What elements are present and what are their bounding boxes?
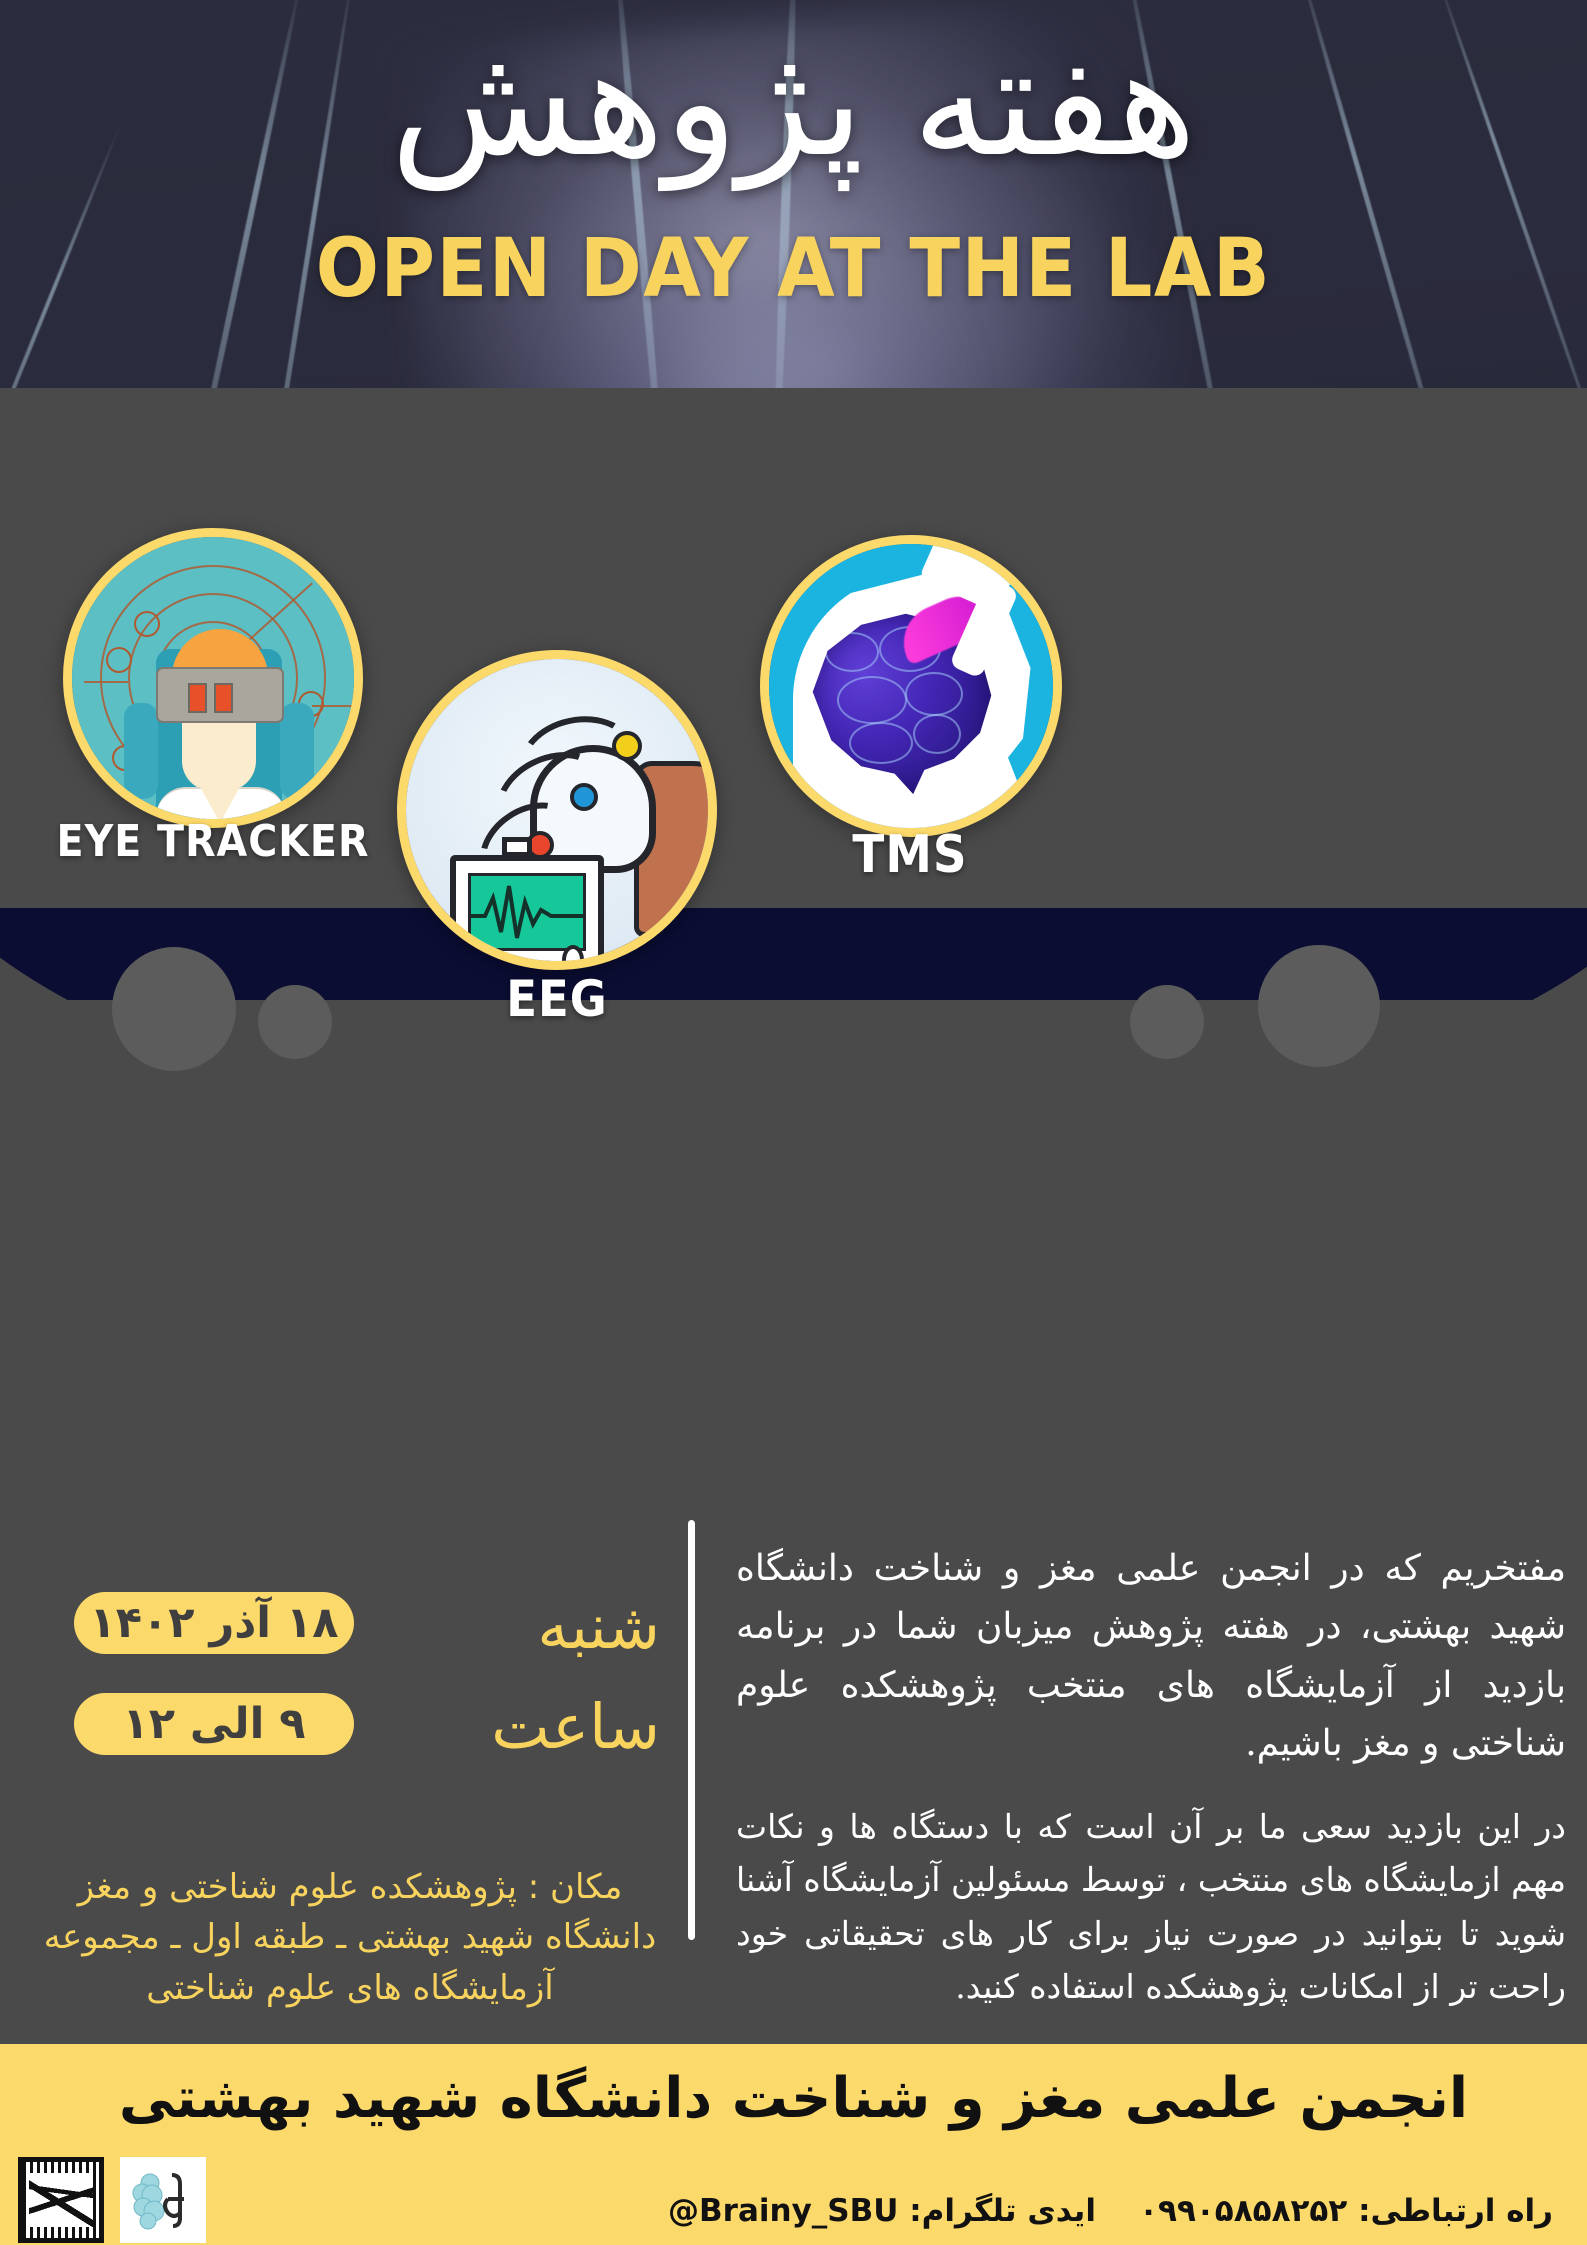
modality-label-tms: TMS bbox=[790, 825, 1030, 885]
monitor-knob-icon bbox=[562, 945, 584, 970]
scan-node-icon bbox=[106, 647, 132, 673]
eeg-monitor-icon bbox=[450, 855, 604, 970]
sbu-university-logo-icon bbox=[18, 2157, 104, 2243]
brain-association-logo-icon bbox=[120, 2157, 206, 2243]
chair-arm-icon bbox=[124, 703, 158, 799]
poster-root: هفته پژوهش OPEN DAY AT THE LAB bbox=[0, 0, 1587, 2245]
gyrus-line-icon bbox=[849, 722, 913, 764]
vertical-divider bbox=[688, 1520, 695, 1940]
day-label: شنبه bbox=[380, 1590, 660, 1663]
sbu-logo-calligraphy bbox=[23, 2162, 99, 2238]
scan-line-icon bbox=[84, 681, 128, 683]
gyrus-line-icon bbox=[905, 672, 963, 716]
page-title-english: OPEN DAY AT THE LAB bbox=[0, 222, 1587, 316]
tms-icon bbox=[760, 535, 1062, 837]
gyrus-line-icon bbox=[837, 676, 907, 724]
electrode-node-blue-icon bbox=[570, 783, 598, 811]
eeg-icon bbox=[397, 650, 717, 970]
description-paragraph-1: مفتخریم که در انجمن علمی مغز و شناخت دان… bbox=[736, 1540, 1566, 1773]
monitor-stand-icon bbox=[502, 837, 532, 857]
footer-bar: انجمن علمی مغز و شناخت دانشگاه شهید بهشت… bbox=[0, 2044, 1587, 2245]
eeg-waveform-screen bbox=[468, 873, 586, 951]
decorative-circle bbox=[258, 985, 332, 1059]
contact-phone: ۰۹۹۰۵۸۵۸۲۵۲ bbox=[1139, 2193, 1347, 2229]
eye-tracker-icon bbox=[63, 528, 363, 828]
telegram-label: ایدی تلگرام: bbox=[909, 2193, 1096, 2229]
scan-node-icon bbox=[134, 611, 160, 637]
contact-line: راه ارتباطی: ۰۹۹۰۵۸۵۸۲۵۲ ایدی تلگرام: @B… bbox=[668, 2193, 1553, 2229]
modality-eye-tracker[interactable]: EYE TRACKER bbox=[63, 528, 363, 828]
gyrus-line-icon bbox=[913, 714, 961, 754]
modality-label-eeg: EEG bbox=[357, 970, 757, 1028]
modality-label-eye-tracker: EYE TRACKER bbox=[8, 816, 418, 867]
page-title-persian: هفته پژوهش bbox=[0, 26, 1587, 178]
electrode-node-yellow-icon bbox=[612, 731, 642, 761]
organization-name: انجمن علمی مغز و شناخت دانشگاه شهید بهشت… bbox=[0, 2066, 1587, 2131]
modality-tms[interactable]: TMS bbox=[760, 535, 1062, 837]
telegram-handle[interactable]: @Brainy_SBU bbox=[668, 2193, 898, 2229]
visor-led-icon bbox=[214, 683, 233, 713]
brain-logo-glyph bbox=[128, 2165, 198, 2235]
description-paragraph-2: در این بازدید سعی ما بر آن است که با دست… bbox=[736, 1800, 1566, 2014]
monitor-button-icon bbox=[494, 961, 508, 970]
decorative-circle bbox=[1130, 985, 1204, 1059]
monitor-button-icon bbox=[516, 961, 530, 970]
time-value-pill: ۹ الی ۱۲ bbox=[74, 1693, 354, 1755]
decorative-circle bbox=[112, 947, 236, 1071]
decorative-circle bbox=[1258, 945, 1380, 1067]
visor-led-icon bbox=[188, 683, 207, 713]
contact-label: راه ارتباطی: bbox=[1358, 2193, 1553, 2229]
time-label: ساعت bbox=[380, 1690, 660, 1763]
eeg-waveform-icon bbox=[471, 876, 583, 948]
venue-text: مکان : پژوهشکده علوم شناختی و مغز دانشگا… bbox=[40, 1862, 660, 2013]
day-value-pill: ۱۸ آذر ۱۴۰۲ bbox=[74, 1592, 354, 1654]
chair-arm-icon bbox=[280, 703, 314, 799]
modality-eeg[interactable]: EEG bbox=[397, 650, 717, 970]
monitor-button-icon bbox=[472, 961, 486, 970]
